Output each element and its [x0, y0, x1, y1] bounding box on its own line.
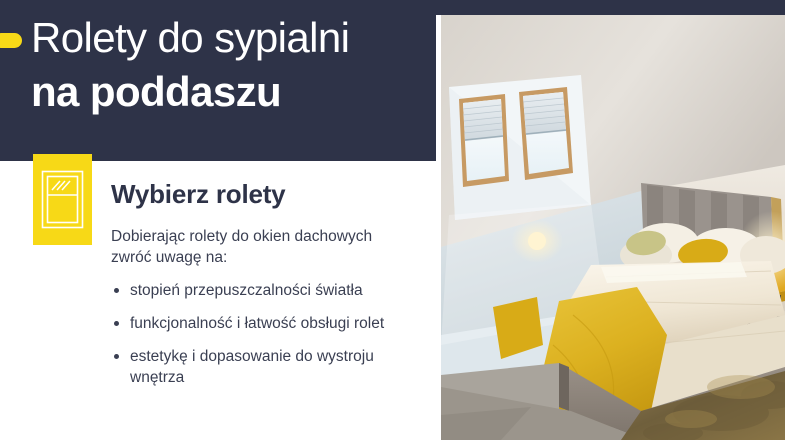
attic-bedroom-photo [441, 15, 785, 440]
tips-list: stopień przepuszczalności światła funkcj… [111, 280, 411, 388]
right-white-margin [785, 0, 800, 440]
page-title-line-1: Rolety do sypialni [31, 12, 431, 64]
page-title-line-2: na poddaszu [31, 66, 431, 118]
list-item: stopień przepuszczalności światła [111, 280, 411, 301]
content-column: Wybierz rolety Dobierając rolety do okie… [111, 178, 411, 388]
list-item: estetykę i dopasowanie do wystroju wnętr… [111, 346, 411, 388]
title-block: Rolety do sypialni na poddaszu [31, 12, 431, 118]
accent-pill-marker [0, 33, 22, 48]
section-lead-text: Dobierając rolety do okien dachowych zwr… [111, 226, 411, 268]
section-heading: Wybierz rolety [111, 178, 411, 210]
roof-window-blind-icon [33, 154, 92, 245]
infographic-canvas: Rolety do sypialni na poddaszu Wybierz r… [0, 0, 800, 440]
list-item: funkcjonalność i łatwość obsługi rolet [111, 313, 411, 334]
